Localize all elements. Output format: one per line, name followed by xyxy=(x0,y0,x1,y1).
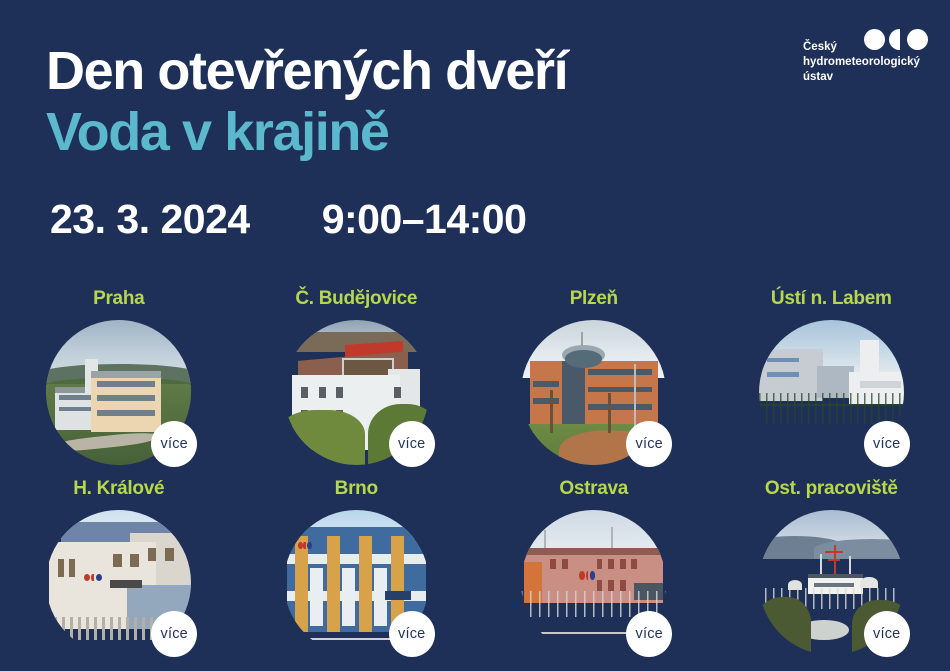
more-button[interactable]: více xyxy=(389,611,435,657)
more-button[interactable]: více xyxy=(864,611,910,657)
page-subtitle: Voda v krajině xyxy=(46,102,567,162)
location-thumb-wrap[interactable]: více xyxy=(284,320,429,465)
location-thumb-wrap[interactable]: více xyxy=(521,320,666,465)
logo-line-3: ústav xyxy=(803,70,928,85)
location-card-brno[interactable]: Brno xyxy=(238,478,476,668)
location-label: Ostrava xyxy=(559,478,628,500)
location-label: Plzeň xyxy=(570,288,618,310)
location-label: H. Králové xyxy=(73,478,164,500)
more-button[interactable]: více xyxy=(626,611,672,657)
logo-line-1: Český xyxy=(803,40,928,55)
location-thumb-wrap[interactable]: více xyxy=(759,510,904,655)
location-card-ceske-budejovice[interactable]: Č. Budějovice xyxy=(238,288,476,478)
location-card-usti-nad-labem[interactable]: Ústí n. Labem více xyxy=(713,288,950,478)
location-label: Ost. pracoviště xyxy=(765,478,898,500)
location-card-plzen[interactable]: Plzeň xyxy=(475,288,713,478)
more-button[interactable]: více xyxy=(389,421,435,467)
location-label: Č. Budějovice xyxy=(295,288,417,310)
location-card-ostatni-pracoviste[interactable]: Ost. pracoviště xyxy=(713,478,950,668)
more-button[interactable]: více xyxy=(151,421,197,467)
location-card-praha[interactable]: Praha více xyxy=(0,288,238,478)
event-time: 9:00–14:00 xyxy=(322,196,527,243)
title-block: Den otevřených dveří Voda v krajině xyxy=(46,42,567,163)
location-label: Praha xyxy=(93,288,144,310)
location-label: Brno xyxy=(335,478,378,500)
location-card-ostrava[interactable]: Ostrava xyxy=(475,478,713,668)
logo-line-2: hydrometeorologický xyxy=(803,55,928,70)
locations-grid: Praha více xyxy=(0,288,950,668)
more-button[interactable]: více xyxy=(151,611,197,657)
location-thumb-wrap[interactable]: více xyxy=(521,510,666,655)
page-title: Den otevřených dveří xyxy=(46,42,567,100)
location-thumb-wrap[interactable]: více xyxy=(46,510,191,655)
more-button[interactable]: více xyxy=(864,421,910,467)
location-card-hradec-kralove[interactable]: H. Králové xyxy=(0,478,238,668)
poster-header: Den otevřených dveří Voda v krajině 23. … xyxy=(0,0,950,270)
poster-root: Den otevřených dveří Voda v krajině 23. … xyxy=(0,0,950,671)
datetime-row: 23. 3. 2024 9:00–14:00 xyxy=(50,196,526,243)
location-thumb-wrap[interactable]: více xyxy=(46,320,191,465)
event-date: 23. 3. 2024 xyxy=(50,196,250,243)
more-button[interactable]: více xyxy=(626,421,672,467)
location-thumb-wrap[interactable]: více xyxy=(759,320,904,465)
logo-text: Český hydrometeorologický ústav xyxy=(803,40,928,86)
location-thumb-wrap[interactable]: více xyxy=(284,510,429,655)
location-label: Ústí n. Labem xyxy=(771,288,892,310)
